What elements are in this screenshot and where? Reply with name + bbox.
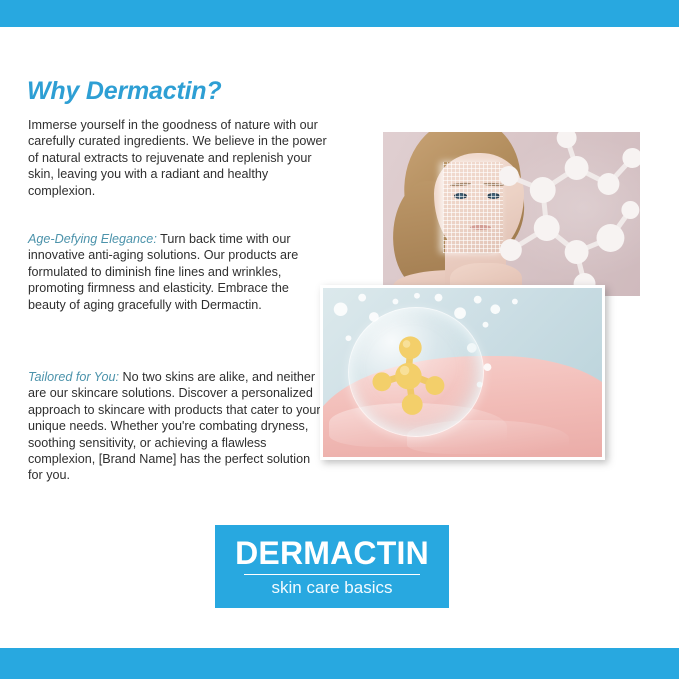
flyer-page: Why Dermactin? Immerse yourself in the g…: [0, 0, 679, 679]
age-defying-lead-in: Age-Defying Elegance:: [28, 232, 157, 246]
serum-molecule-icon: [362, 325, 462, 420]
intro-paragraph: Immerse yourself in the goodness of natu…: [28, 117, 328, 199]
age-defying-paragraph: Age-Defying Elegance: Turn back time wit…: [28, 231, 328, 313]
woman-face-molecule-photo: [383, 132, 640, 296]
molecule-lattice-icon: [481, 132, 640, 296]
bottom-brand-bar: [0, 648, 679, 679]
logo-wordmark: DERMACTIN: [235, 537, 429, 569]
top-brand-bar: [0, 0, 679, 27]
tailored-lead-in: Tailored for You:: [28, 370, 119, 384]
tailored-paragraph: Tailored for You: No two skins are alike…: [28, 369, 328, 484]
tailored-body: No two skins are alike, and neither are …: [28, 370, 321, 482]
logo-divider: [244, 574, 420, 576]
serum-bubble-cream-photo: [320, 285, 605, 460]
page-title: Why Dermactin?: [27, 77, 221, 106]
logo-tagline: skin care basics: [272, 579, 393, 596]
brand-logo: DERMACTIN skin care basics: [215, 525, 449, 608]
